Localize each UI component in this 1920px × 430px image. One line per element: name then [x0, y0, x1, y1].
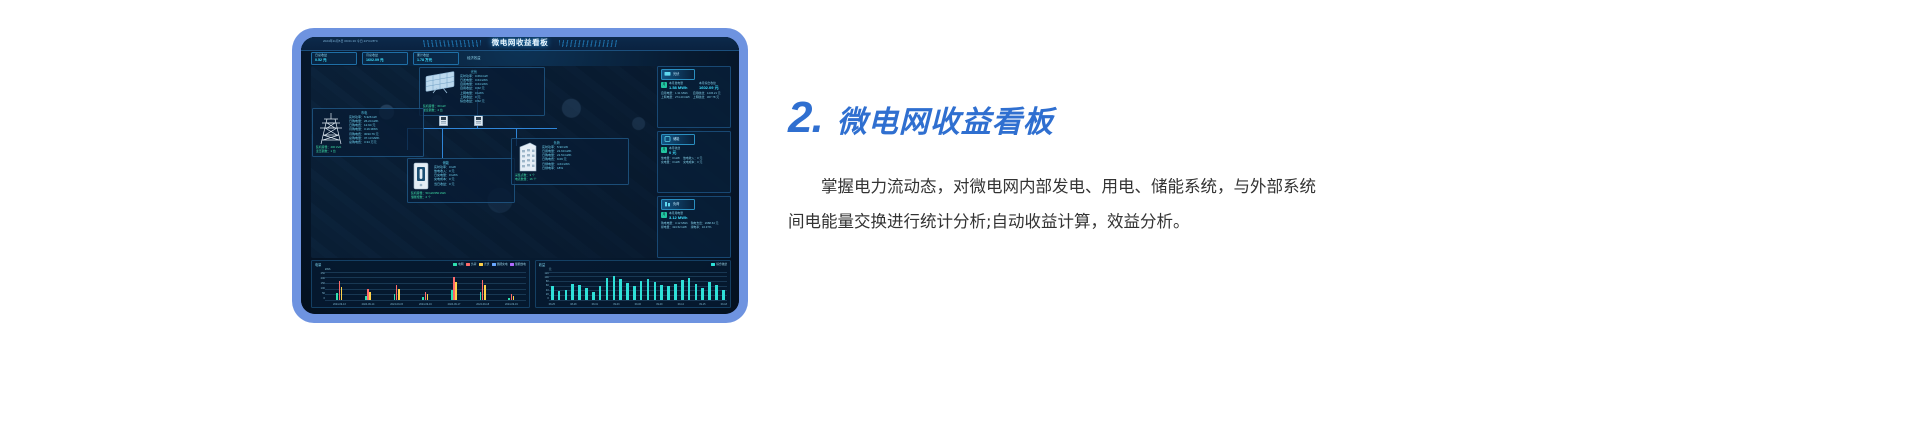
- x-tick: 2024-09-14: [362, 303, 375, 306]
- bar: [647, 279, 650, 300]
- load-block-footer: 采集点数：3 个 电表数量：16 个: [515, 174, 625, 182]
- bar-group: [565, 272, 568, 300]
- x-tick: 2024-09-19: [505, 303, 518, 306]
- bar-group: [619, 272, 622, 300]
- bar-group: [681, 272, 684, 300]
- kpi-section-tag: 经济效益: [467, 56, 481, 60]
- legend-item[interactable]: 光伏: [479, 263, 489, 266]
- bar-group: [365, 272, 371, 300]
- chart-plot-area: [549, 272, 727, 300]
- chart-x-axis: 2024-09-132024-09-142024-09-152024-09-16…: [325, 303, 526, 306]
- kpi-label: 日总收益: [315, 54, 353, 58]
- x-tick: 09-15: [699, 303, 705, 306]
- battery-cabinet-icon: [664, 136, 671, 143]
- bar-group: [336, 272, 342, 300]
- bar: [427, 294, 429, 300]
- meter-icon-right: [474, 115, 483, 126]
- kpi-value: 1602.09 元: [366, 58, 404, 62]
- x-tick: 2024-09-18: [476, 303, 489, 306]
- bar-group: [451, 272, 457, 300]
- bar-group: [688, 272, 691, 300]
- bar: [565, 290, 568, 300]
- legend-swatch: [492, 263, 496, 265]
- solar-panel-icon: [423, 70, 457, 96]
- bar: [341, 287, 343, 300]
- bar: [619, 279, 622, 300]
- summary-rows-right: 自用收益：1236.21 元 上网收益：307.78 元: [693, 92, 721, 100]
- legend-swatch: [466, 263, 470, 265]
- slide-copy: 2. 微电网收益看板 掌握电力流动态，对微电网内部发电、用电、储能系统，与外部系…: [788, 96, 1318, 256]
- bar: [339, 281, 341, 300]
- summary-rows-right: 放电收入：0 元 充电成本：0 元: [683, 157, 702, 165]
- bar-group: [708, 272, 711, 300]
- headline: 2. 微电网收益看板: [788, 96, 1318, 140]
- bar: [667, 286, 670, 300]
- metric-value: 1.58 MWh: [669, 85, 697, 90]
- meter-icon-left: [439, 115, 448, 126]
- chart-y-axis: 250200150100500: [314, 272, 325, 300]
- period-badge: 月: [661, 212, 667, 218]
- summary-card-pv[interactable]: 光伏 月 本月发电量 1.58 MWh 本月综合收益 1602.09 元: [657, 66, 731, 128]
- energy-bar-chart[interactable]: 电量 电网负荷光伏储能充电储能放电 kWh 250200150100500 20…: [311, 260, 530, 308]
- legend-label: 负荷: [471, 263, 476, 266]
- dashboard-topbar: 2024年11月5日 09:01:16 今日 24°C/28°C 微电网收益看板: [301, 37, 739, 51]
- bar-group: [715, 272, 718, 300]
- chart-title: 收益: [539, 263, 727, 267]
- legend-item[interactable]: 储能充电: [492, 263, 508, 266]
- kpi-value: 0.52 元: [315, 58, 353, 62]
- solar-panel-icon: [664, 71, 671, 78]
- x-tick: 09-12: [678, 303, 684, 306]
- bar: [715, 285, 718, 300]
- bar: [508, 298, 510, 300]
- bar: [558, 291, 561, 300]
- summary-card-title: 光伏: [673, 72, 679, 76]
- grid-block-footer: 装机容量：400 kVA 变压器数：1 台: [316, 146, 420, 154]
- kpi-value: 1.78 万元: [417, 58, 455, 62]
- period-badge: 月: [661, 147, 667, 153]
- bar: [640, 281, 643, 300]
- bar: [513, 296, 515, 300]
- dashboard-screen: 2024年11月5日 09:01:16 今日 24°C/28°C 微电网收益看板…: [301, 37, 739, 314]
- wire-storage-drop: [442, 128, 443, 158]
- legend-item[interactable]: 电网: [453, 263, 463, 266]
- bar: [688, 278, 691, 300]
- bar: [551, 286, 554, 300]
- bar: [455, 282, 457, 300]
- bar-group: [647, 272, 650, 300]
- chart-bars: [549, 272, 727, 300]
- bar-group: [701, 272, 704, 300]
- revenue-bar-chart[interactable]: 收益 综合收益 元 120100806040200 08-2508-2808-3…: [535, 260, 731, 308]
- x-tick: 09-03: [613, 303, 619, 306]
- x-tick: 2024-09-16: [419, 303, 432, 306]
- x-tick: 2024-09-13: [333, 303, 346, 306]
- bar: [722, 290, 725, 300]
- chart-legend: 综合收益: [711, 263, 727, 266]
- metric-value: 3.12 MWh: [669, 215, 727, 220]
- building-icon: [515, 141, 539, 173]
- kpi-label: 月总收益: [366, 54, 404, 58]
- kpi-row: 日总收益 0.52 元 月总收益 1602.09 元 累计收益 1.78 万元 …: [311, 52, 481, 65]
- bar: [425, 292, 427, 300]
- x-tick: 08-28: [570, 303, 576, 306]
- summary-rows-right: 购电支出：2988.64 元 绿电率：10.37%: [691, 222, 719, 230]
- battery-cabinet-icon: [411, 161, 431, 191]
- legend-swatch: [453, 263, 457, 265]
- bar: [599, 286, 602, 300]
- summary-rows-left: 放电量：0 kWh 充电量：0 kWh: [661, 157, 680, 165]
- device-frame: 2024年11月5日 09:01:16 今日 24°C/28°C 微电网收益看板…: [292, 28, 748, 323]
- body-paragraph: 掌握电力流动态，对微电网内部发电、用电、储能系统，与外部系统间电能量交换进行统计…: [788, 170, 1318, 239]
- pv-info-block: 光伏 实时功率：0.664 kW 日发电量：0.64 kWh 自用电量：0.64…: [419, 67, 545, 116]
- bar-group: [394, 272, 400, 300]
- period-badge: 月: [661, 82, 667, 88]
- summary-card-load[interactable]: 负荷 月 本月用电量 3.12 MWh 购电电量：3.12 MWh 绿电量：32…: [657, 196, 731, 258]
- bar-group: [606, 272, 609, 300]
- bar-group: [722, 272, 725, 300]
- bar: [571, 284, 574, 300]
- kpi-card-monthly[interactable]: 月总收益 1602.09 元: [362, 52, 408, 65]
- legend-swatch: [711, 263, 715, 265]
- bar: [369, 292, 371, 300]
- legend-label: 综合收益: [716, 263, 727, 266]
- legend-item[interactable]: 综合收益: [711, 263, 727, 266]
- summary-card-storage[interactable]: 储能 月 本月收益 0 元 放电量：0 kWh 充电量：0 kWh: [657, 131, 731, 193]
- bar: [592, 292, 595, 300]
- bar: [511, 294, 513, 300]
- bar-group: [695, 272, 698, 300]
- transmission-tower-icon: [316, 111, 346, 145]
- dashboard-title: 微电网收益看板: [301, 38, 739, 47]
- summary-rows-left: 购电电量：3.12 MWh 绿电量：324.52 kWh: [661, 222, 688, 230]
- bar-group: [667, 272, 670, 300]
- bar: [585, 288, 588, 300]
- wire-main-bus: [407, 128, 557, 129]
- bar: [654, 282, 657, 300]
- right-summary-column: 光伏 月 本月发电量 1.58 MWh 本月综合收益 1602.09 元: [657, 66, 731, 258]
- kpi-card-daily[interactable]: 日总收益 0.52 元: [311, 52, 357, 65]
- summary-card-title: 负荷: [673, 202, 679, 206]
- bar-group: [599, 272, 602, 300]
- legend-swatch: [479, 263, 483, 265]
- legend-label: 电网: [458, 263, 463, 266]
- bar-group: [480, 272, 486, 300]
- x-tick: 08-25: [549, 303, 555, 306]
- pv-block-footer: 装机容量：60 kW 逆变器数：2 台: [423, 105, 541, 113]
- legend-label: 光伏: [484, 263, 489, 266]
- x-tick: 08-31: [592, 303, 598, 306]
- bar: [398, 289, 400, 300]
- chart-plot-area: [325, 272, 526, 300]
- bar-group: [585, 272, 588, 300]
- kpi-card-total[interactable]: 累计收益 1.78 万元: [413, 52, 459, 65]
- charts-row: 电量 电网负荷光伏储能充电储能放电 kWh 250200150100500 20…: [311, 260, 731, 308]
- bar: [336, 293, 338, 300]
- x-tick: 09-06: [635, 303, 641, 306]
- summary-metric: 本月综合收益 1602.09 元: [699, 82, 727, 90]
- bar: [626, 283, 629, 300]
- metric-value: 0 元: [669, 150, 727, 155]
- x-tick: 09-09: [656, 303, 662, 306]
- bar: [633, 286, 636, 300]
- summary-card-pv-header: 光伏: [661, 69, 695, 80]
- legend-label: 储能放电: [515, 263, 526, 266]
- bar: [708, 282, 711, 300]
- summary-metric: 本月用电量 3.12 MWh: [669, 212, 727, 220]
- summary-card-storage-header: 储能: [661, 134, 695, 145]
- dashboard-root: 2024年11月5日 09:01:16 今日 24°C/28°C 微电网收益看板…: [301, 37, 739, 314]
- summary-rows-left: 自用电量：1.31 MWh 上网电量：274.40 kWh: [661, 92, 690, 100]
- x-tick: 2024-09-15: [390, 303, 403, 306]
- summary-metric: 本月发电量 1.58 MWh: [669, 82, 697, 90]
- load-info-block: 负荷 实时功率：5.90 kW 日用电量：21.60 kWh 日购电量：21.5…: [511, 138, 629, 185]
- metric-value: 1602.09 元: [699, 85, 727, 90]
- bar-group: [613, 272, 616, 300]
- bar: [422, 297, 424, 300]
- x-tick: 09-18: [721, 303, 727, 306]
- bar-group: [508, 272, 514, 300]
- bar: [681, 280, 684, 300]
- bar: [606, 278, 609, 300]
- legend-label: 储能充电: [497, 263, 508, 266]
- bar-group: [660, 272, 663, 300]
- x-tick: 2024-09-17: [448, 303, 461, 306]
- bar-group: [578, 272, 581, 300]
- chart-x-axis: 08-2508-2808-3109-0309-0609-0909-1209-15…: [549, 303, 727, 306]
- bar-group: [640, 272, 643, 300]
- page-title: 微电网收益看板: [837, 108, 1054, 138]
- load-block-rows: 实时功率：5.90 kW 日用电量：21.60 kWh 日购电量：21.54 k…: [542, 146, 571, 170]
- bar: [660, 285, 663, 300]
- summary-card-title: 储能: [673, 137, 679, 141]
- bar-group: [422, 272, 428, 300]
- bar: [613, 276, 616, 300]
- chart-legend: 电网负荷光伏储能充电储能放电: [453, 263, 526, 266]
- bar-group: [633, 272, 636, 300]
- storage-block-footer: 装机容量：50 kW/250 kWh 储能柜数：2 个: [411, 192, 511, 200]
- kpi-label: 累计收益: [417, 54, 455, 58]
- bar: [484, 285, 486, 300]
- bar: [578, 285, 581, 300]
- summary-card-load-header: 负荷: [661, 199, 695, 210]
- bar: [701, 288, 704, 300]
- bar-group: [674, 272, 677, 300]
- legend-item[interactable]: 负荷: [466, 263, 476, 266]
- summary-metric: 本月收益 0 元: [669, 147, 727, 155]
- bar: [695, 284, 698, 300]
- bar-group: [551, 272, 554, 300]
- bar-group: [654, 272, 657, 300]
- building-icon: [664, 201, 671, 208]
- bar-group: [626, 272, 629, 300]
- bar-group: [558, 272, 561, 300]
- legend-item[interactable]: 储能放电: [510, 263, 526, 266]
- chart-y-axis: 120100806040200: [538, 272, 549, 300]
- pv-block-rows: 实时功率：0.664 kW 日发电量：0.64 kWh 自用电量：0.64 kW…: [460, 75, 488, 104]
- bar-group: [592, 272, 595, 300]
- chart-bars: [325, 272, 526, 300]
- bar-group: [571, 272, 574, 300]
- grid-info-block: 市电 实时功率：5.326 kW 日购电量：26.24 kWh 日购电费：12.…: [312, 108, 424, 157]
- legend-swatch: [510, 263, 514, 265]
- storage-info-block: 储能 实时功率：0 kW 放电收入：0 元 日充电量：0 kWh 充电成本：0 …: [407, 158, 515, 203]
- bar: [674, 284, 677, 300]
- slide-number: 2.: [788, 96, 823, 140]
- grid-block-rows: 实时功率：5.326 kW 日购电量：26.24 kWh 日购电费：12.94 …: [349, 116, 379, 145]
- storage-block-rows: 实时功率：0 kW 放电收入：0 元 日充电量：0 kWh 充电成本：0 元 当…: [434, 166, 458, 186]
